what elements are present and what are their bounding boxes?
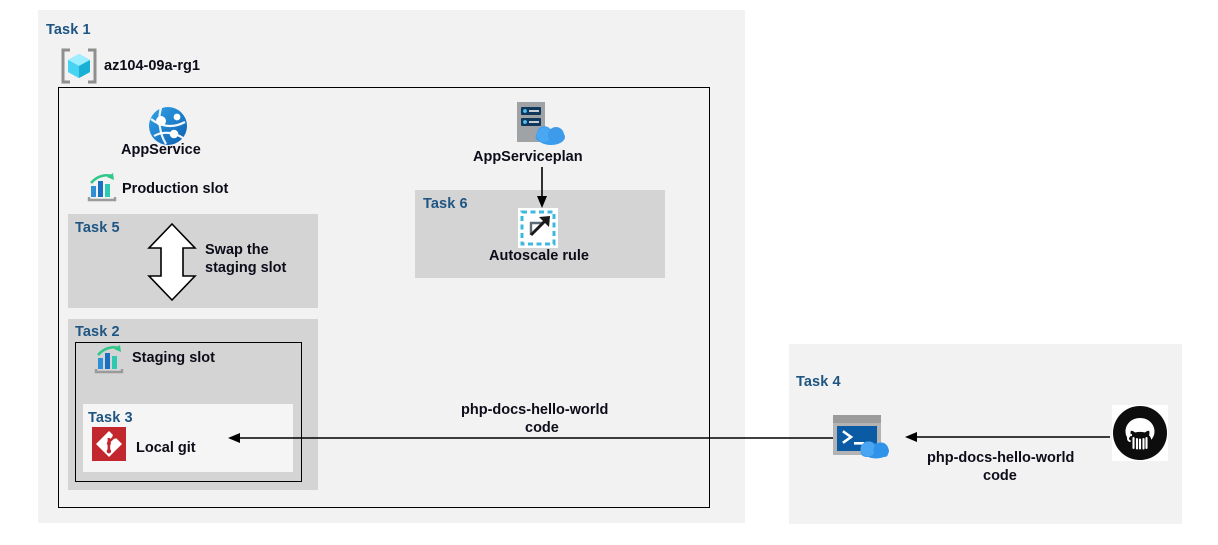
task4-arrow-label-line2: code bbox=[983, 468, 1017, 486]
cloud-shell-icon bbox=[833, 415, 896, 460]
task5-text-line1: Swap the bbox=[205, 242, 269, 260]
task3-label: Task 3 bbox=[88, 410, 133, 426]
appservice-globe-icon bbox=[147, 105, 189, 147]
center-arrow-label-line2: code bbox=[525, 420, 559, 438]
task5-text-line2: staging slot bbox=[205, 260, 286, 278]
production-slot-label: Production slot bbox=[122, 181, 228, 199]
autoscale-rule-icon bbox=[518, 208, 558, 248]
task1-label: Task 1 bbox=[46, 22, 91, 38]
task5-label: Task 5 bbox=[75, 220, 120, 236]
local-git-label: Local git bbox=[136, 440, 196, 458]
swap-double-arrow-icon bbox=[145, 222, 199, 302]
center-arrow-label-line1: php-docs-hello-world bbox=[461, 402, 608, 420]
appservice-label: AppService bbox=[121, 142, 201, 160]
autoscale-rule-label: Autoscale rule bbox=[489, 248, 589, 266]
resource-group-cube-icon bbox=[60, 48, 98, 84]
appserviceplan-server-cloud-icon bbox=[512, 100, 568, 146]
resource-group-name: az104-09a-rg1 bbox=[104, 58, 200, 76]
task6-label: Task 6 bbox=[423, 196, 468, 212]
github-logo-icon bbox=[1112, 405, 1168, 461]
appserviceplan-label: AppServiceplan bbox=[473, 149, 583, 167]
task4-arrow-label-line1: php-docs-hello-world bbox=[927, 450, 1074, 468]
diagram-canvas: Task 1 az104-09a-rg1 bbox=[0, 0, 1218, 545]
task4-label: Task 4 bbox=[796, 374, 841, 390]
staging-slot-label: Staging slot bbox=[132, 350, 215, 368]
deployment-slot-icon bbox=[88, 173, 118, 203]
task2-label: Task 2 bbox=[75, 324, 120, 340]
git-logo-icon bbox=[92, 427, 126, 461]
staging-slot-icon bbox=[95, 345, 125, 375]
